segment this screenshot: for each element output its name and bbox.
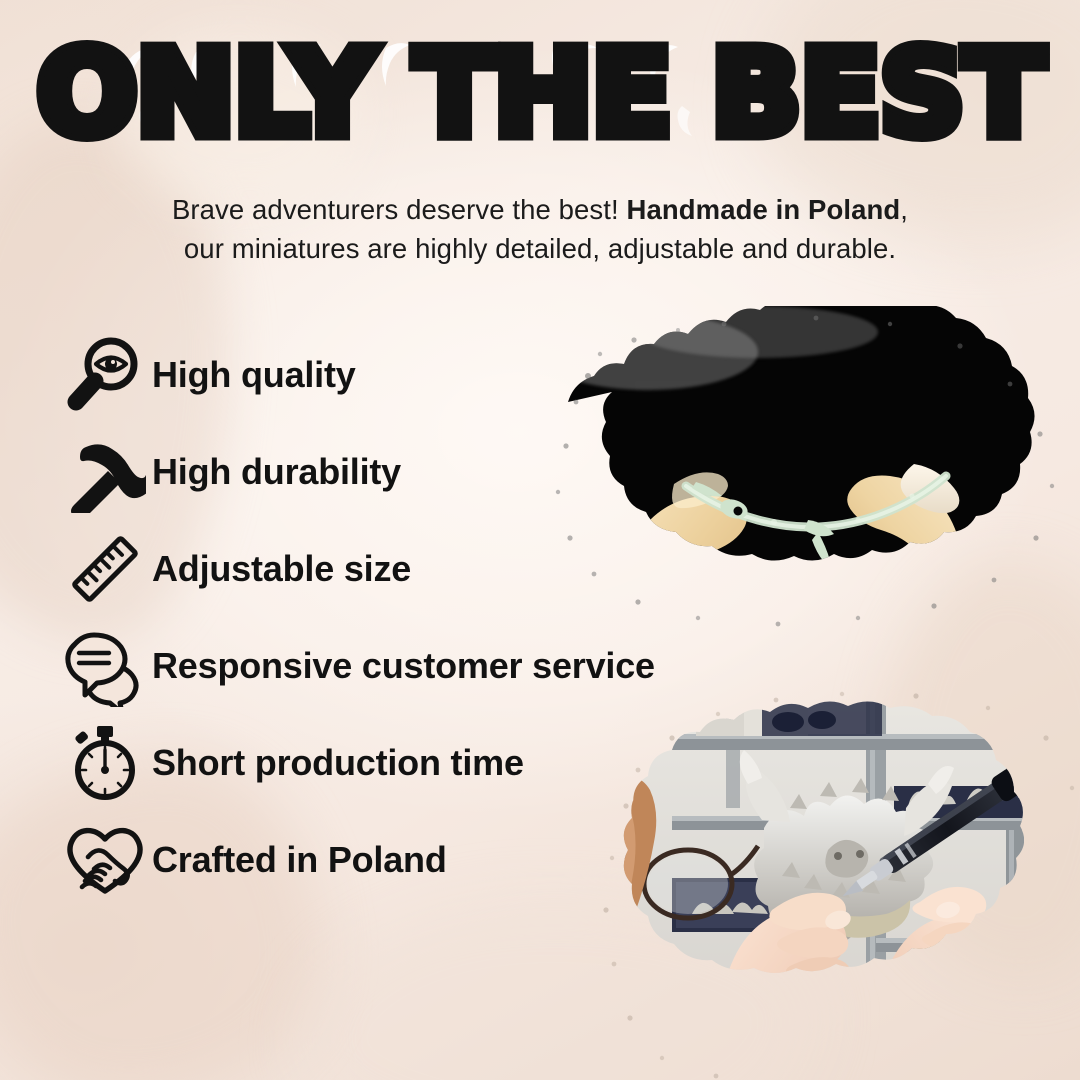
list-item-label: High durability xyxy=(152,451,401,493)
subtitle-lead: Brave adventurers deserve the best! xyxy=(172,194,627,225)
list-item-label: Adjustable size xyxy=(152,548,411,590)
subtitle: Brave adventurers deserve the best! Hand… xyxy=(90,190,990,268)
list-item: Responsive customer service xyxy=(62,617,822,714)
list-item-label: High quality xyxy=(152,354,356,396)
list-item: Short production time xyxy=(62,714,822,811)
hammer-icon xyxy=(62,429,148,515)
subtitle-tail: , xyxy=(900,194,908,225)
feature-list: High quality High durability xyxy=(62,326,822,908)
stopwatch-icon xyxy=(62,720,148,806)
list-item-label: Responsive customer service xyxy=(152,645,655,687)
page-title: ONLY THE BEST xyxy=(0,34,1080,152)
ruler-icon xyxy=(62,526,148,612)
list-item: High durability xyxy=(62,423,822,520)
subtitle-line-2: our miniatures are highly detailed, adju… xyxy=(90,229,990,268)
list-item-label: Crafted in Poland xyxy=(152,839,447,881)
subtitle-bold: Handmade in Poland xyxy=(627,194,901,225)
heart-handshake-icon xyxy=(62,817,148,903)
list-item: Crafted in Poland xyxy=(62,811,822,908)
poster-canvas: ONLY THE BEST Brave adventurers deserve … xyxy=(0,0,1080,1080)
speech-bubbles-icon xyxy=(62,623,148,709)
list-item: High quality xyxy=(62,326,822,423)
list-item: Adjustable size xyxy=(62,520,822,617)
list-item-label: Short production time xyxy=(152,742,524,784)
magnifier-eye-icon xyxy=(62,332,148,418)
subtitle-line-1: Brave adventurers deserve the best! Hand… xyxy=(90,190,990,229)
headline-block: ONLY THE BEST xyxy=(0,0,1080,186)
